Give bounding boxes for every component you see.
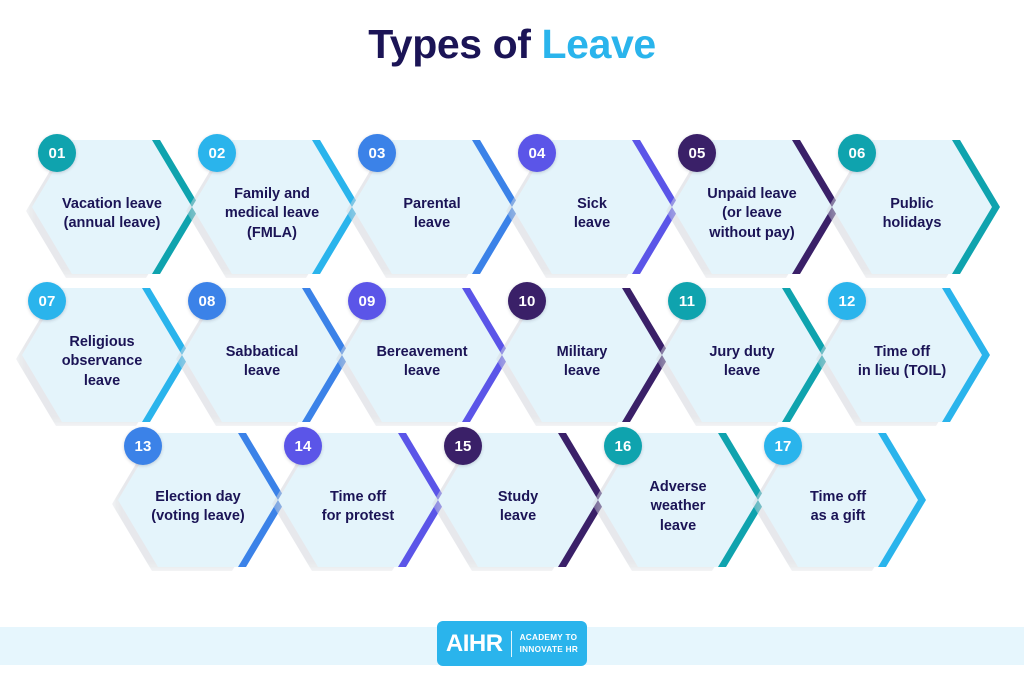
leave-type-number-badge: 14 xyxy=(284,427,322,465)
leave-type-number-badge: 07 xyxy=(28,282,66,320)
aihr-logo-wordmark: AIHR xyxy=(446,632,511,656)
aihr-logo: AIHR ACADEMY TO INNOVATE HR xyxy=(437,621,587,666)
leave-types-grid: Vacation leave (annual leave)01Family an… xyxy=(0,0,1024,600)
leave-type-label: Unpaid leave (or leave without pay) xyxy=(690,171,814,243)
leave-type-card-01[interactable]: Vacation leave (annual leave)01 xyxy=(26,134,202,282)
leave-type-card-03[interactable]: Parental leave03 xyxy=(346,134,522,282)
leave-type-label: Public holidays xyxy=(850,181,974,234)
leave-type-label: Sick leave xyxy=(530,181,654,234)
leave-type-card-10[interactable]: Military leave10 xyxy=(496,282,672,430)
leave-type-label: Bereavement leave xyxy=(360,329,484,382)
leave-type-label: Adverse weather leave xyxy=(616,464,740,536)
leave-type-card-16[interactable]: Adverse weather leave16 xyxy=(592,427,768,575)
leave-type-card-13[interactable]: Election day (voting leave)13 xyxy=(112,427,288,575)
leave-type-label: Parental leave xyxy=(370,181,494,234)
leave-type-number-badge: 15 xyxy=(444,427,482,465)
leave-type-label: Military leave xyxy=(520,329,644,382)
leave-type-label: Election day (voting leave) xyxy=(136,474,260,527)
leave-type-number-badge: 10 xyxy=(508,282,546,320)
leave-type-card-11[interactable]: Jury duty leave11 xyxy=(656,282,832,430)
leave-type-label: Time off for protest xyxy=(296,474,420,527)
leave-type-number-badge: 13 xyxy=(124,427,162,465)
logo-divider xyxy=(511,631,512,657)
leave-type-label: Religious observance leave xyxy=(40,319,164,391)
leave-type-number-badge: 11 xyxy=(668,282,706,320)
leave-type-label: Study leave xyxy=(456,474,580,527)
leave-type-card-07[interactable]: Religious observance leave07 xyxy=(16,282,192,430)
leave-type-card-05[interactable]: Unpaid leave (or leave without pay)05 xyxy=(666,134,842,282)
leave-type-number-badge: 06 xyxy=(838,134,876,172)
leave-type-card-12[interactable]: Time off in lieu (TOIL)12 xyxy=(816,282,992,430)
leave-type-number-badge: 16 xyxy=(604,427,642,465)
leave-type-card-09[interactable]: Bereavement leave09 xyxy=(336,282,512,430)
aihr-logo-tagline: ACADEMY TO INNOVATE HR xyxy=(520,632,579,654)
leave-type-number-badge: 05 xyxy=(678,134,716,172)
leave-type-number-badge: 04 xyxy=(518,134,556,172)
infographic-canvas: Types of Leave Vacation leave (annual le… xyxy=(0,0,1024,680)
leave-type-label: Family and medical leave (FMLA) xyxy=(210,171,334,243)
leave-type-card-15[interactable]: Study leave15 xyxy=(432,427,608,575)
leave-type-number-badge: 01 xyxy=(38,134,76,172)
leave-type-card-08[interactable]: Sabbatical leave08 xyxy=(176,282,352,430)
leave-type-label: Jury duty leave xyxy=(680,329,804,382)
leave-type-card-14[interactable]: Time off for protest14 xyxy=(272,427,448,575)
leave-type-number-badge: 09 xyxy=(348,282,386,320)
leave-type-card-17[interactable]: Time off as a gift17 xyxy=(752,427,928,575)
leave-type-number-badge: 17 xyxy=(764,427,802,465)
leave-type-label: Time off in lieu (TOIL) xyxy=(840,329,964,382)
leave-type-number-badge: 03 xyxy=(358,134,396,172)
leave-type-number-badge: 12 xyxy=(828,282,866,320)
leave-type-label: Vacation leave (annual leave) xyxy=(50,181,174,234)
leave-type-card-04[interactable]: Sick leave04 xyxy=(506,134,682,282)
leave-type-label: Sabbatical leave xyxy=(200,329,324,382)
leave-type-card-02[interactable]: Family and medical leave (FMLA)02 xyxy=(186,134,362,282)
leave-type-number-badge: 02 xyxy=(198,134,236,172)
leave-type-card-06[interactable]: Public holidays06 xyxy=(826,134,1002,282)
leave-type-number-badge: 08 xyxy=(188,282,226,320)
leave-type-label: Time off as a gift xyxy=(776,474,900,527)
